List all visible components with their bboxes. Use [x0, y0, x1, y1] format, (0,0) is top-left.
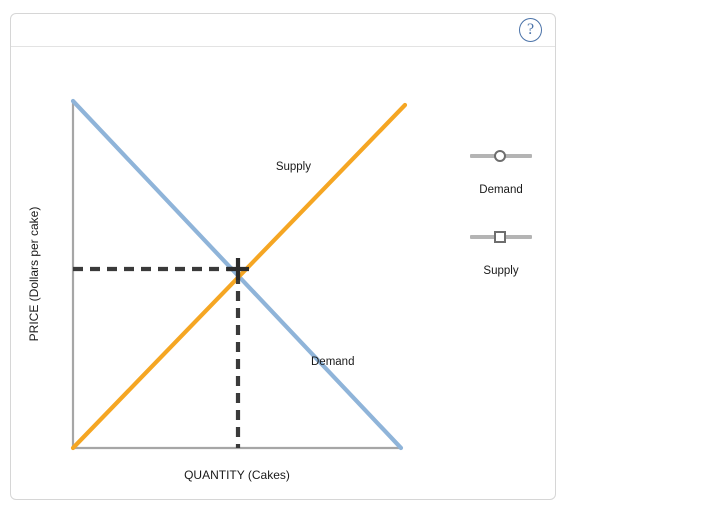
panel-toolbar: ?: [11, 14, 555, 47]
demand-slider-circle-handle[interactable]: [494, 150, 506, 162]
demand-slider[interactable]: [470, 147, 532, 165]
chart-canvas: Supply Demand QUANTITY (Cakes) PRICE (Do…: [11, 47, 555, 500]
legend-item-supply: Supply: [451, 228, 551, 277]
demand-slider-label: Demand: [451, 184, 551, 196]
supply-slider[interactable]: [470, 228, 532, 246]
supply-slider-label: Supply: [451, 265, 551, 277]
question-mark-icon[interactable]: ?: [519, 18, 542, 42]
graph-panel: ? Supply Demand QUANTITY (Cakes) PRICE (…: [10, 13, 556, 500]
demand-curve-label: Demand: [311, 356, 354, 368]
supply-curve-label: Supply: [276, 161, 311, 173]
supply-slider-square-handle[interactable]: [494, 231, 506, 243]
x-axis-title: QUANTITY (Cakes): [184, 468, 290, 482]
legend-item-demand: Demand: [451, 147, 551, 196]
y-axis-title: PRICE (Dollars per cake): [27, 207, 41, 342]
legend: Demand Supply: [451, 147, 551, 277]
